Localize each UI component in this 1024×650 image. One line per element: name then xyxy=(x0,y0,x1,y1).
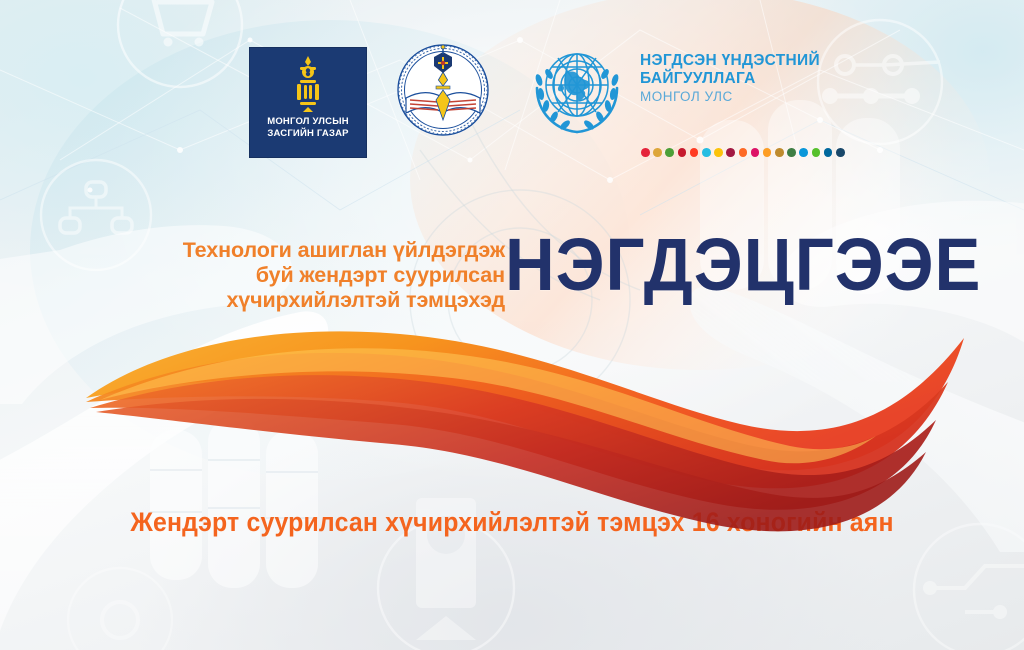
un-logo-line3: МОНГОЛ УЛС xyxy=(640,88,890,105)
gov-logo-line2: ЗАСГИЙН ГАЗАР xyxy=(267,128,349,140)
un-logo-line2: БАЙГУУЛЛАГА xyxy=(640,70,890,88)
sdg-dot-1 xyxy=(641,148,650,157)
soyombo-icon xyxy=(290,55,326,113)
un-logo-line1: НЭГДСЭН ҮНДЭСТНИЙ xyxy=(640,52,890,70)
campaign-poster: МОНГОЛ УЛСЫН ЗАСГИЙН ГАЗАР xyxy=(0,0,1024,650)
sdg-dot-4 xyxy=(678,148,687,157)
sdg-colour-dots xyxy=(641,148,845,157)
gov-logo-text: МОНГОЛ УЛСЫН ЗАСГИЙН ГАЗАР xyxy=(267,116,349,139)
sdg-dot-10 xyxy=(751,148,760,157)
sdg-dot-8 xyxy=(726,148,735,157)
sdg-dot-11 xyxy=(763,148,772,157)
sdg-dot-14 xyxy=(799,148,808,157)
sdg-dot-16 xyxy=(824,148,833,157)
ministry-seal-logo xyxy=(395,42,491,138)
united-nations-emblem-icon xyxy=(527,40,627,140)
sdg-dot-2 xyxy=(653,148,662,157)
sdg-dot-5 xyxy=(690,148,699,157)
sdg-dot-7 xyxy=(714,148,723,157)
sdg-dot-17 xyxy=(836,148,845,157)
un-logo-text: НЭГДСЭН ҮНДЭСТНИЙ БАЙГУУЛЛАГА МОНГОЛ УЛС xyxy=(640,52,890,105)
sdg-dot-3 xyxy=(665,148,674,157)
sdg-dot-15 xyxy=(812,148,821,157)
mongolian-government-logo: МОНГОЛ УЛСЫН ЗАСГИЙН ГАЗАР xyxy=(249,47,367,158)
sdg-dot-9 xyxy=(739,148,748,157)
sdg-dot-6 xyxy=(702,148,711,157)
sdg-dot-13 xyxy=(787,148,796,157)
gov-logo-line1: МОНГОЛ УЛСЫН xyxy=(267,116,349,128)
logo-row: МОНГОЛ УЛСЫН ЗАСГИЙН ГАЗАР xyxy=(0,38,1024,143)
sdg-dot-12 xyxy=(775,148,784,157)
